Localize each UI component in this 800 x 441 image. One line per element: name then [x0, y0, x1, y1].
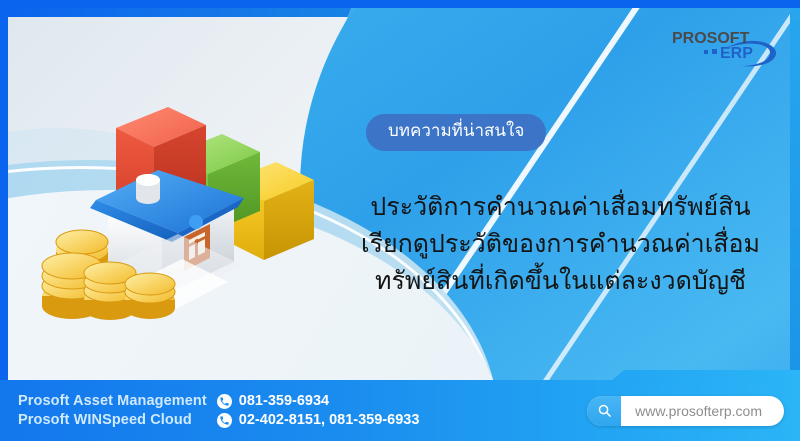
search-icon[interactable]	[587, 396, 621, 426]
footer-bar: Prosoft Asset Management Prosoft WINSpee…	[0, 380, 800, 441]
promo-banner: PROSOFT ERP บทความที่น่าสนใจ ประวัติการค…	[0, 0, 800, 441]
asset-management-illustration	[38, 100, 314, 325]
banner-stage: PROSOFT ERP บทความที่น่าสนใจ ประวัติการค…	[8, 8, 800, 380]
footer-phone-1: 081-359-6934	[239, 393, 329, 409]
footer-phone-2: 02-402-8151, 081-359-6933	[239, 412, 420, 428]
footer-contact-group: Prosoft Asset Management Prosoft WINSpee…	[18, 393, 419, 428]
footer-product-names: Prosoft Asset Management Prosoft WINSpee…	[18, 393, 207, 428]
logo-text-erp: ERP	[720, 45, 753, 62]
prosoft-erp-logo: PROSOFT ERP	[664, 22, 782, 70]
footer-product-1: Prosoft Asset Management	[18, 393, 207, 409]
footer-phone-row-2[interactable]: 02-402-8151, 081-359-6933	[217, 412, 420, 428]
article-badge: บทความที่น่าสนใจ	[366, 114, 546, 151]
footer-product-2: Prosoft WINSpeed Cloud	[18, 412, 207, 428]
headline-line-3: ทรัพย์สินที่เกิดขึ้นในแต่ละงวดบัญชี	[338, 262, 783, 299]
headline: ประวัติการคำนวณค่าเสื่อมทรัพย์สิน เรียกด…	[338, 188, 783, 299]
website-url: www.prosofterp.com	[621, 403, 778, 419]
footer-phone-list: 081-359-6934 02-402-8151, 081-359-6933	[217, 393, 420, 428]
headline-line-2: เรียกดูประวัติของการคำนวณค่าเสื่อม	[338, 225, 783, 262]
phone-icon	[217, 394, 232, 409]
phone-icon	[217, 413, 232, 428]
website-search-pill[interactable]: www.prosofterp.com	[587, 396, 784, 426]
right-edge-strip	[790, 8, 800, 380]
headline-line-1: ประวัติการคำนวณค่าเสื่อมทรัพย์สิน	[338, 188, 783, 225]
footer-phone-row-1[interactable]: 081-359-6934	[217, 393, 420, 409]
